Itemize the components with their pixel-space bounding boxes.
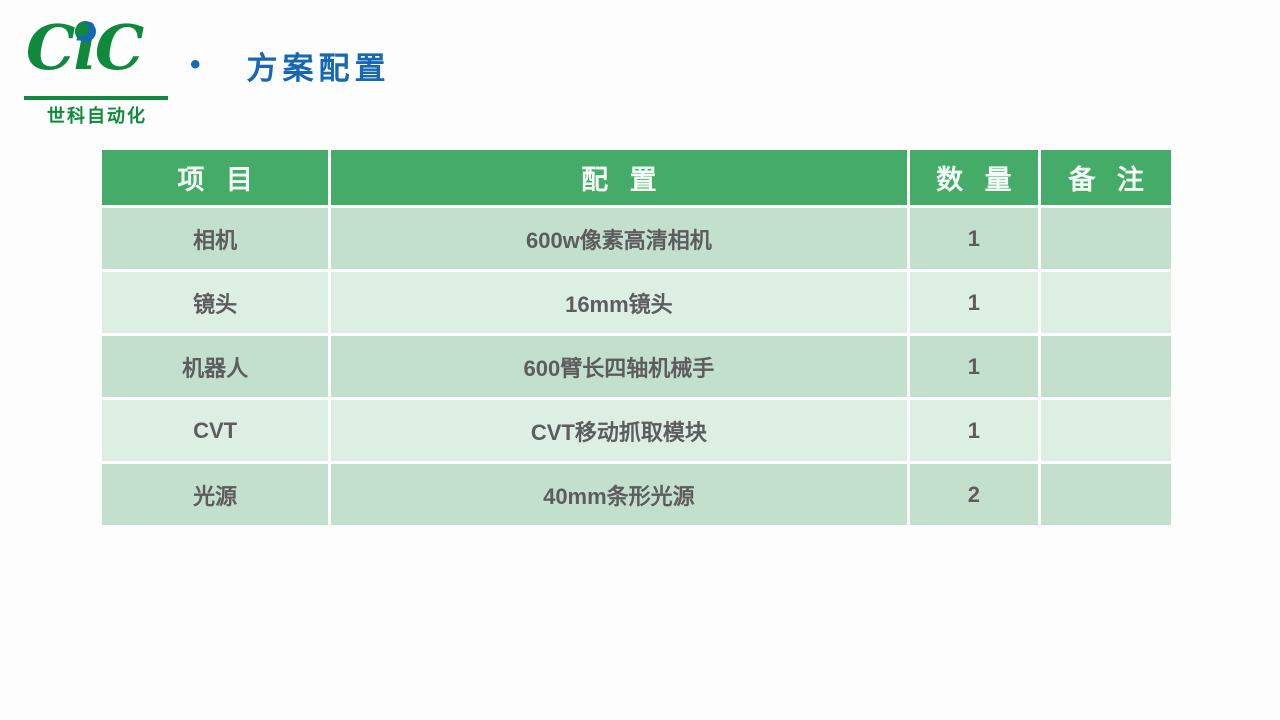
cell-config: 600w像素高清相机 [331, 208, 906, 269]
table-row: CVT CVT移动抓取模块 1 [102, 400, 1171, 461]
cell-qty: 1 [910, 336, 1039, 397]
cell-remark [1041, 464, 1171, 525]
logo-subtitle: 世科自动化 [22, 102, 172, 128]
cell-qty: 1 [910, 208, 1039, 269]
cell-remark [1041, 272, 1171, 333]
cell-remark [1041, 208, 1171, 269]
globe-icon [75, 21, 96, 42]
logo-wordmark: CiC [26, 12, 176, 84]
cell-item: 镜头 [102, 272, 328, 333]
cell-config: 600臂长四轴机械手 [331, 336, 906, 397]
cell-config: CVT移动抓取模块 [331, 400, 906, 461]
logo-divider [24, 96, 168, 100]
table-header-row: 项 目 配 置 数 量 备 注 [102, 150, 1171, 205]
cell-qty: 1 [910, 272, 1039, 333]
cell-item: 机器人 [102, 336, 328, 397]
page-title: 方案配置 [247, 43, 391, 88]
cell-item: CVT [102, 400, 328, 461]
cell-item: 光源 [102, 464, 328, 525]
table-row: 光源 40mm条形光源 2 [102, 464, 1171, 525]
cell-config: 16mm镜头 [331, 272, 906, 333]
table-row: 镜头 16mm镜头 1 [102, 272, 1171, 333]
slide-title-row: • 方案配置 [190, 40, 391, 90]
bullet-icon: • [190, 50, 201, 80]
company-logo: CiC 世科自动化 [22, 16, 172, 119]
cell-qty: 1 [910, 400, 1039, 461]
column-header-qty: 数 量 [910, 150, 1039, 205]
cell-config: 40mm条形光源 [331, 464, 906, 525]
table-header: 项 目 配 置 数 量 备 注 [102, 150, 1171, 205]
cell-remark [1041, 400, 1171, 461]
configuration-table: 项 目 配 置 数 量 备 注 相机 600w像素高清相机 1 镜头 16mm镜… [99, 147, 1174, 528]
logo-mark: CiC [22, 16, 172, 88]
cell-remark [1041, 336, 1171, 397]
table-row: 相机 600w像素高清相机 1 [102, 208, 1171, 269]
slide-header: CiC 世科自动化 • 方案配置 [0, 0, 1280, 130]
table-row: 机器人 600臂长四轴机械手 1 [102, 336, 1171, 397]
cell-qty: 2 [910, 464, 1039, 525]
cell-item: 相机 [102, 208, 328, 269]
column-header-remark: 备 注 [1041, 150, 1171, 205]
column-header-item: 项 目 [102, 150, 328, 205]
column-header-config: 配 置 [331, 150, 906, 205]
table-body: 相机 600w像素高清相机 1 镜头 16mm镜头 1 机器人 600臂长四轴机… [102, 208, 1171, 525]
